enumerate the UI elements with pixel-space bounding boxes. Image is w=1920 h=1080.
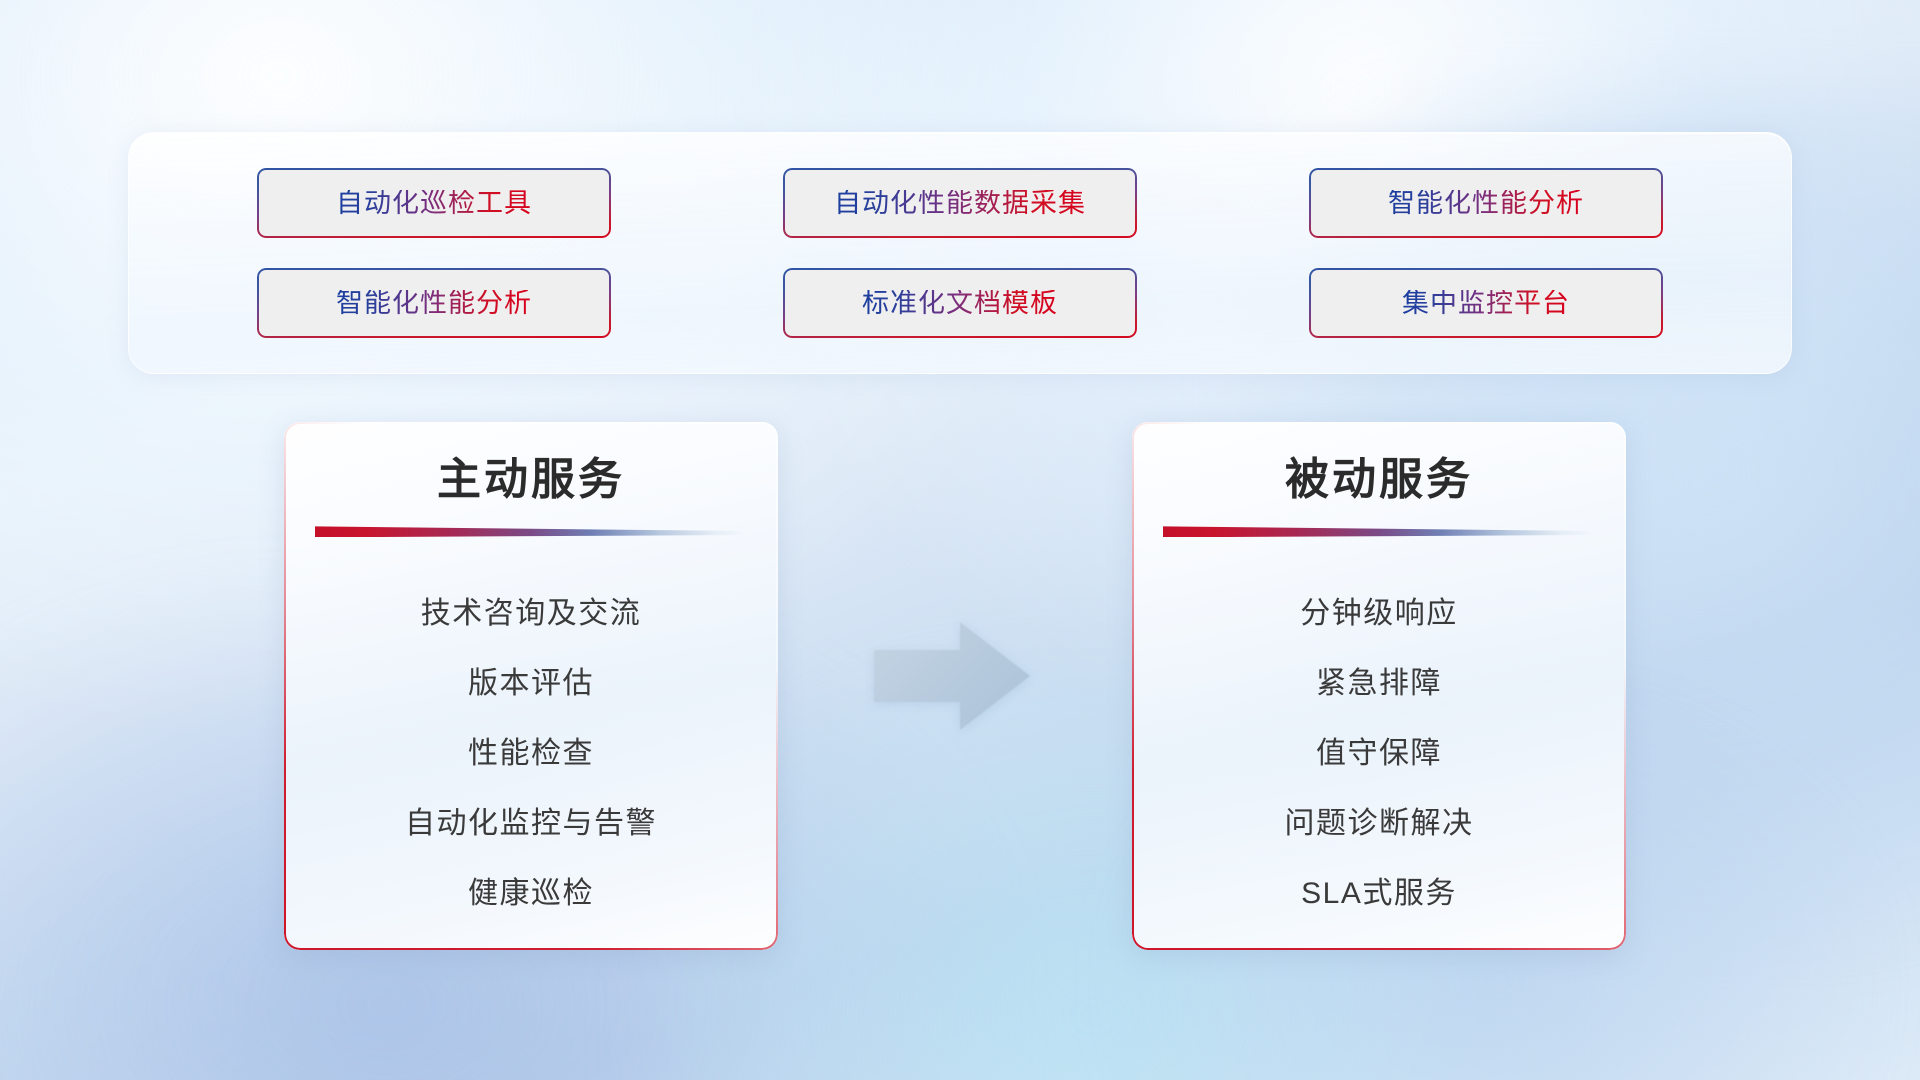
slide-canvas: 自动化巡检工具 自动化性能数据采集 智能化性能分析 智能化性能分析 标准化文档模… <box>0 0 1920 1080</box>
capability-chip-3[interactable]: 智能化性能分析 <box>1309 168 1663 238</box>
list-item: SLA式服务 <box>1301 859 1457 929</box>
capability-chip-label: 集中监控平台 <box>1402 290 1570 317</box>
list-item: 版本评估 <box>468 649 594 719</box>
capability-chip-label: 智能化性能分析 <box>1388 190 1584 217</box>
list-item: 分钟级响应 <box>1300 579 1458 649</box>
capability-chip-label: 自动化性能数据采集 <box>834 190 1086 217</box>
capability-chip-label: 标准化文档模板 <box>862 290 1058 317</box>
list-item: 紧急排障 <box>1316 649 1442 719</box>
service-item-list: 技术咨询及交流 版本评估 性能检查 自动化监控与告警 健康巡检 <box>284 579 778 929</box>
list-item: 性能检查 <box>468 719 594 789</box>
title-divider <box>315 526 747 537</box>
capability-chip-1[interactable]: 自动化巡检工具 <box>257 168 611 238</box>
list-item: 自动化监控与告警 <box>405 789 657 859</box>
list-item: 值守保障 <box>1316 719 1442 789</box>
capability-chip-6[interactable]: 集中监控平台 <box>1309 268 1663 338</box>
capability-chip-label: 自动化巡检工具 <box>336 190 532 217</box>
list-item: 技术咨询及交流 <box>421 579 642 649</box>
capability-chip-2[interactable]: 自动化性能数据采集 <box>783 168 1137 238</box>
list-item: 健康巡检 <box>468 859 594 929</box>
service-card-proactive[interactable]: 主动服务 技术咨询及交流 版本评估 性能检查 自动化监控与告警 健康巡检 <box>284 422 778 950</box>
title-divider <box>1163 526 1595 537</box>
card-title: 主动服务 <box>284 456 778 504</box>
service-item-list: 分钟级响应 紧急排障 值守保障 问题诊断解决 SLA式服务 <box>1132 579 1626 929</box>
capabilities-panel: 自动化巡检工具 自动化性能数据采集 智能化性能分析 智能化性能分析 标准化文档模… <box>128 132 1792 374</box>
arrow-right-icon <box>872 618 1032 734</box>
card-title: 被动服务 <box>1132 456 1626 504</box>
service-card-reactive[interactable]: 被动服务 分钟级响应 紧急排障 值守保障 问题诊断解决 SLA式服务 <box>1132 422 1626 950</box>
capability-chip-4[interactable]: 智能化性能分析 <box>257 268 611 338</box>
capability-chip-label: 智能化性能分析 <box>336 290 532 317</box>
capability-chip-5[interactable]: 标准化文档模板 <box>783 268 1137 338</box>
list-item: 问题诊断解决 <box>1285 789 1474 859</box>
capability-chip-grid: 自动化巡检工具 自动化性能数据采集 智能化性能分析 智能化性能分析 标准化文档模… <box>129 133 1791 373</box>
